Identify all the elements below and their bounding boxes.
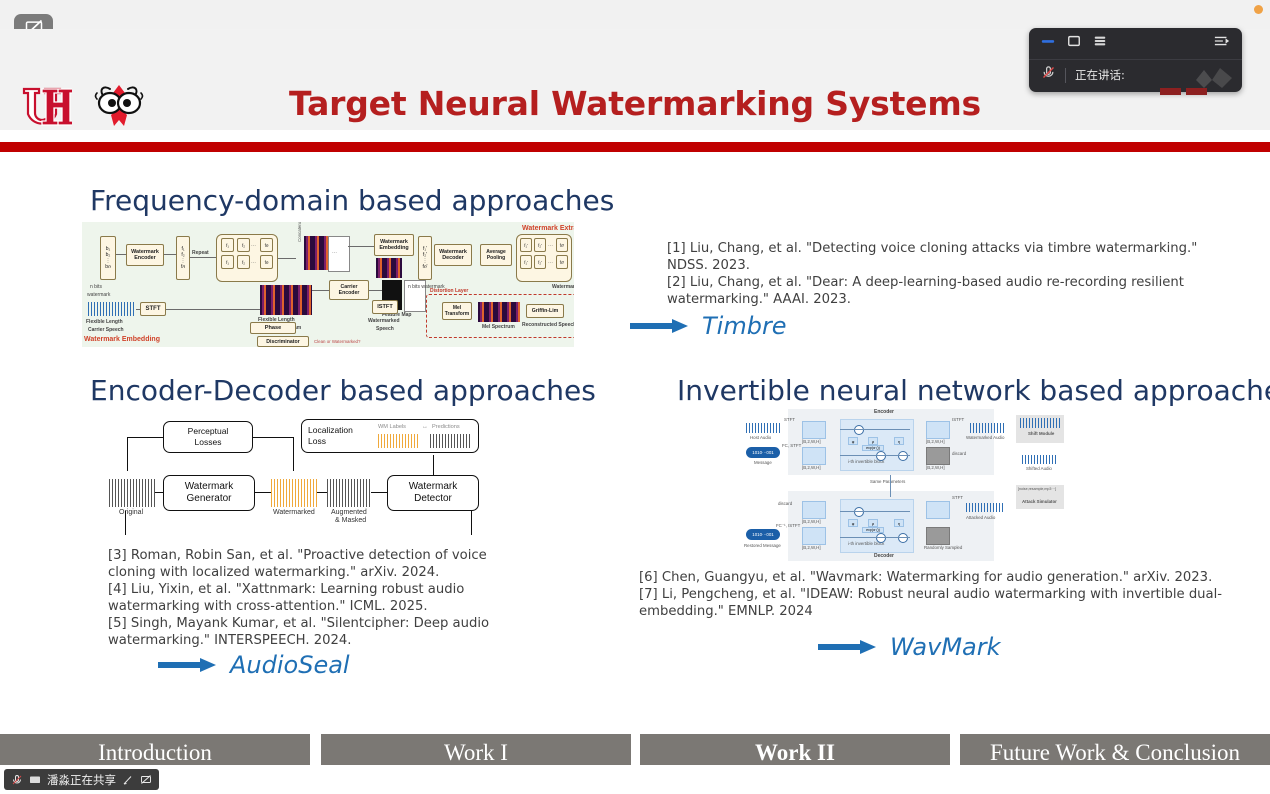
- section-heading-encoder-decoder: Encoder-Decoder based approaches: [90, 374, 596, 407]
- nav-tab-label: Work I: [321, 734, 631, 765]
- nav-tab-label: Introduction: [0, 734, 310, 765]
- callout-wavmark: WavMark: [818, 633, 1001, 661]
- share-status-label: 潘淼正在共享: [47, 772, 116, 788]
- meeting-overlay-red-bars: [1160, 88, 1232, 95]
- reference-item: [2] Liu, Chang, et al. "Dear: A deep-lea…: [667, 274, 1227, 308]
- reference-item: [7] Li, Pengcheng, et al. "IDEAW: Robust…: [639, 586, 1224, 620]
- arrow-right-icon: [158, 658, 218, 672]
- presentation-slide: Target Neural Watermarking Systems Frequ…: [0, 29, 1270, 765]
- mic-muted-icon[interactable]: [11, 774, 23, 786]
- reference-item: [5] Singh, Mayank Kumar, et al. "Silentc…: [108, 615, 508, 649]
- nav-tab-future-work[interactable]: Future Work & Conclusion: [960, 734, 1270, 765]
- mic-muted-icon[interactable]: [1041, 65, 1056, 85]
- nav-tab-work-i[interactable]: Work I: [321, 734, 631, 765]
- screen-share-icon[interactable]: [29, 774, 41, 786]
- section-heading-frequency: Frequency-domain based approaches: [90, 184, 614, 217]
- nav-tab-label: Future Work & Conclusion: [960, 734, 1270, 765]
- slide-section-nav: Introduction Work I Work II Future Work …: [0, 734, 1270, 765]
- stop-share-icon[interactable]: [140, 774, 152, 786]
- figure-encoder-decoder-audioseal: PerceptualLosses LocalizationLoss WM Lab…: [105, 417, 487, 535]
- arrow-right-icon: [630, 319, 690, 333]
- reference-list-invertible: [6] Chen, Guangyu, et al. "Wavmark: Wate…: [639, 569, 1224, 620]
- figure-invertible-neural-network: Encoder i-th invertible block Host Audio…: [744, 403, 1068, 569]
- callout-label: WavMark: [890, 633, 1001, 661]
- reference-list-frequency: [1] Liu, Chang, et al. "Detecting voice …: [667, 240, 1227, 308]
- reference-item: [3] Roman, Robin San, et al. "Proactive …: [108, 547, 508, 581]
- meeting-floating-window[interactable]: 正在讲话:: [1029, 28, 1242, 92]
- minimize-icon[interactable]: [1041, 34, 1055, 53]
- meeting-brand-watermark: [1190, 64, 1238, 90]
- title-divider-rule: [0, 142, 1270, 152]
- speaking-status-label: 正在讲话:: [1075, 67, 1125, 83]
- callout-timbre: Timbre: [630, 312, 787, 340]
- recording-indicator-dot: [1254, 5, 1263, 14]
- nav-tab-introduction[interactable]: Introduction: [0, 734, 310, 765]
- screen-share-status-pill[interactable]: 潘淼正在共享: [4, 769, 159, 790]
- reference-item: [1] Liu, Chang, et al. "Detecting voice …: [667, 240, 1227, 274]
- arrow-right-icon: [818, 640, 878, 654]
- nav-tab-work-ii[interactable]: Work II: [640, 734, 950, 765]
- callout-label: Timbre: [702, 312, 787, 340]
- reference-item: [4] Liu, Yixin, et al. "Xattnmark: Learn…: [108, 581, 508, 615]
- callout-audioseal: AudioSeal: [158, 651, 350, 679]
- panel-toggle-icon[interactable]: [1214, 34, 1230, 53]
- reference-list-encoder-decoder: [3] Roman, Robin San, et al. "Proactive …: [108, 547, 508, 649]
- nav-tab-label: Work II: [640, 734, 950, 765]
- restore-icon[interactable]: [1067, 34, 1081, 53]
- callout-label: AudioSeal: [230, 651, 350, 679]
- menu-icon[interactable]: [1093, 34, 1107, 53]
- figure-frequency-domain-pipeline: b₁b₂⋮b𝑛 n bits watermark WatermarkEncode…: [82, 222, 574, 347]
- taskbar: [0, 765, 1270, 794]
- meeting-window-toolbar: [1029, 28, 1242, 59]
- reference-item: [6] Chen, Guangyu, et al. "Wavmark: Wate…: [639, 569, 1224, 586]
- annotate-pen-icon[interactable]: [122, 774, 134, 786]
